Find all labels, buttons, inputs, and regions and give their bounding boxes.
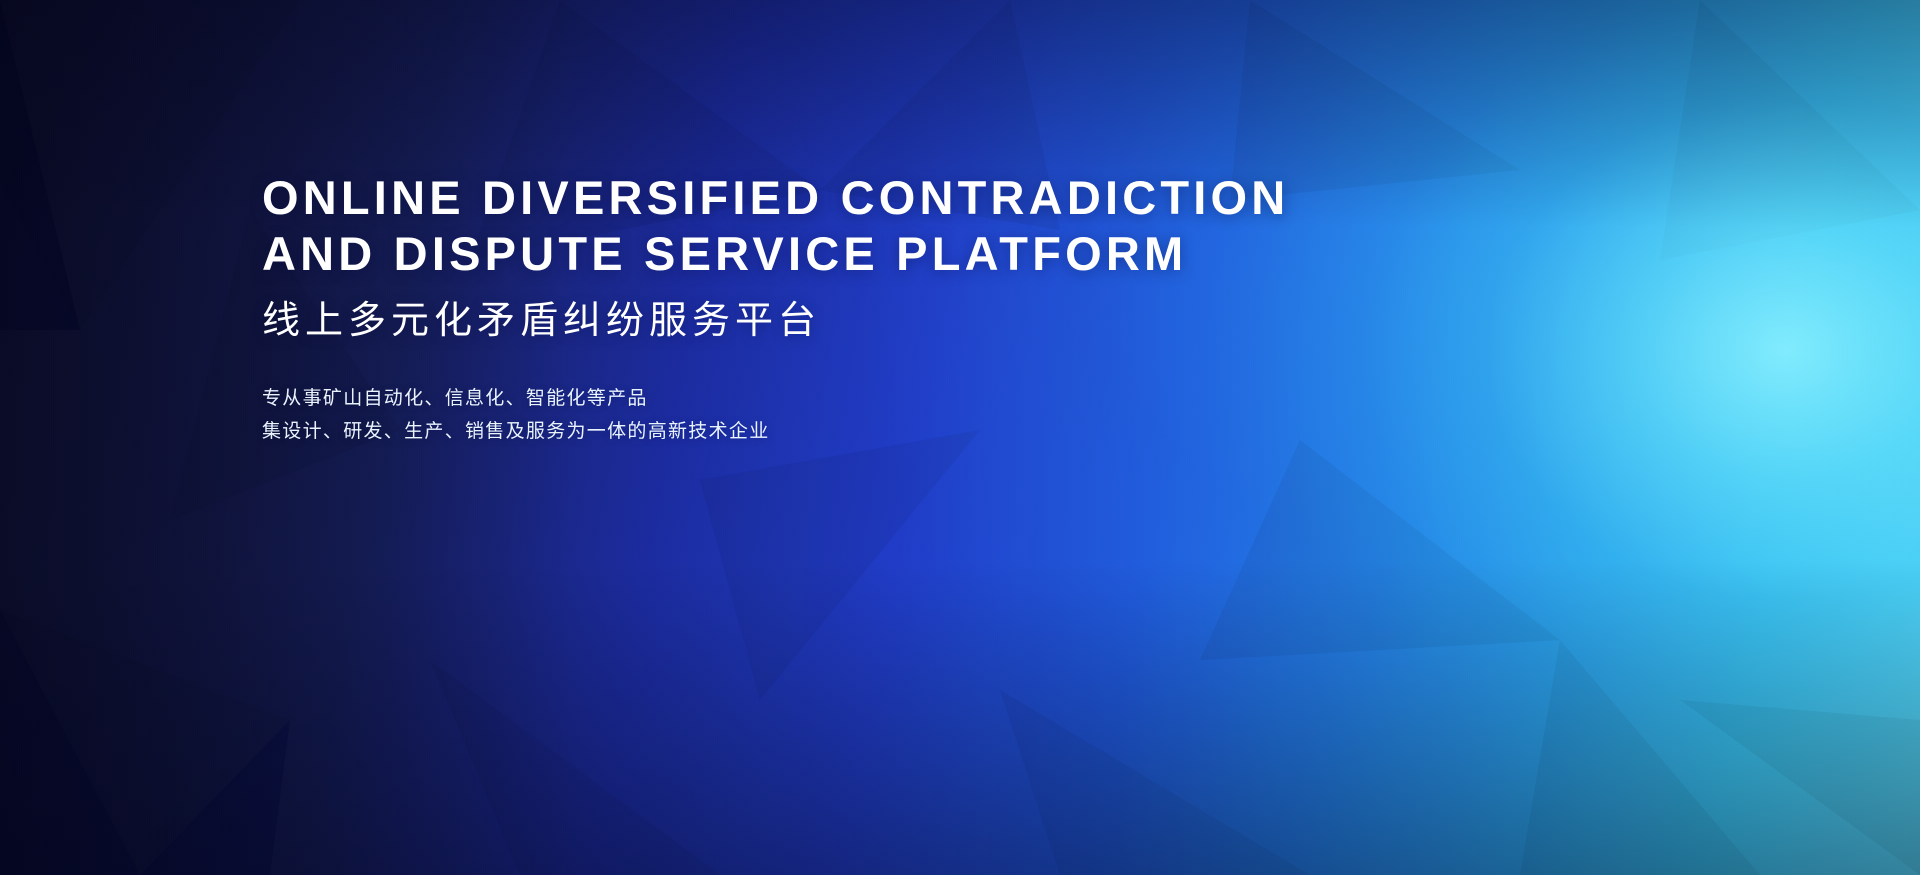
banner-content: ONLINE DIVERSIFIED CONTRADICTION AND DIS… [262,170,1662,448]
banner-description: 专从事矿山自动化、信息化、智能化等产品 集设计、研发、生产、销售及服务为一体的高… [262,382,1662,448]
banner-description-line-2: 集设计、研发、生产、销售及服务为一体的高新技术企业 [262,415,1662,448]
hero-banner: ONLINE DIVERSIFIED CONTRADICTION AND DIS… [0,0,1920,875]
banner-description-line-1: 专从事矿山自动化、信息化、智能化等产品 [262,382,1662,415]
banner-title-chinese: 线上多元化矛盾纠纷服务平台 [262,298,1662,344]
banner-title-english: ONLINE DIVERSIFIED CONTRADICTION AND DIS… [262,170,1662,282]
